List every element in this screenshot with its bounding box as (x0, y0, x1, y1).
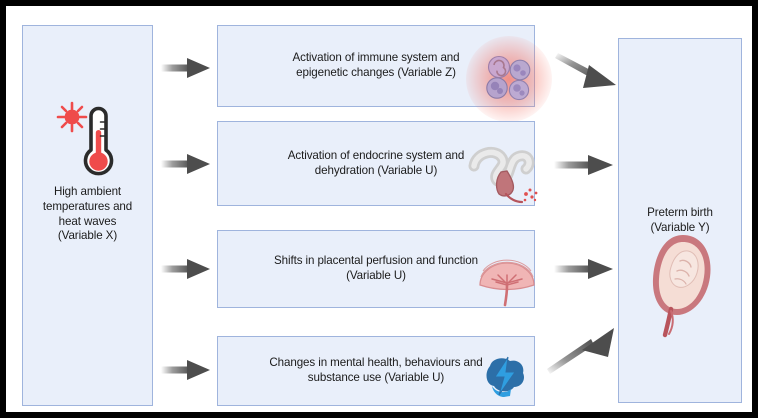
endocrine-gland-icon (466, 144, 544, 206)
node-mediator-endocrine[interactable]: Activation of endocrine system and dehyd… (217, 121, 535, 206)
node-outcome-label: Preterm birth (Variable Y) (639, 206, 721, 235)
node-mediator-mental-health[interactable]: Changes in mental health, behaviours and… (217, 336, 535, 406)
arrow-endocrine-to-outcome (554, 154, 616, 176)
arrow-placental-to-outcome (554, 258, 616, 280)
node-mediator-endocrine-label: Activation of endocrine system and dehyd… (280, 149, 472, 178)
node-exposure[interactable]: High ambient temperatures and heat waves… (22, 25, 153, 406)
immune-glow (466, 36, 552, 122)
node-outcome[interactable]: Preterm birth (Variable Y) (618, 38, 742, 403)
node-mediator-placental-label: Shifts in placental perfusion and functi… (266, 254, 486, 283)
node-mediator-immune[interactable]: Activation of immune system and epigenet… (217, 25, 535, 107)
fetus-in-womb-icon (647, 231, 719, 339)
thermometer-sun-icon (53, 98, 125, 182)
figure-canvas: High ambient temperatures and heat waves… (6, 6, 752, 412)
node-exposure-label: High ambient temperatures and heat waves… (35, 185, 140, 245)
arrow-immune-to-outcome (554, 53, 620, 95)
arrow-exposure-to-immune (161, 57, 213, 79)
node-mediator-immune-label: Activation of immune system and epigenet… (284, 51, 467, 80)
figure-frame: High ambient temperatures and heat waves… (0, 0, 758, 418)
arrow-exposure-to-mental-health (161, 359, 213, 381)
arrow-exposure-to-endocrine (161, 153, 213, 175)
arrow-exposure-to-placental (161, 258, 213, 280)
node-mediator-mental-health-label: Changes in mental health, behaviours and… (261, 356, 490, 385)
arrow-mental-health-to-outcome (546, 324, 618, 374)
node-mediator-placental[interactable]: Shifts in placental perfusion and functi… (217, 230, 535, 308)
